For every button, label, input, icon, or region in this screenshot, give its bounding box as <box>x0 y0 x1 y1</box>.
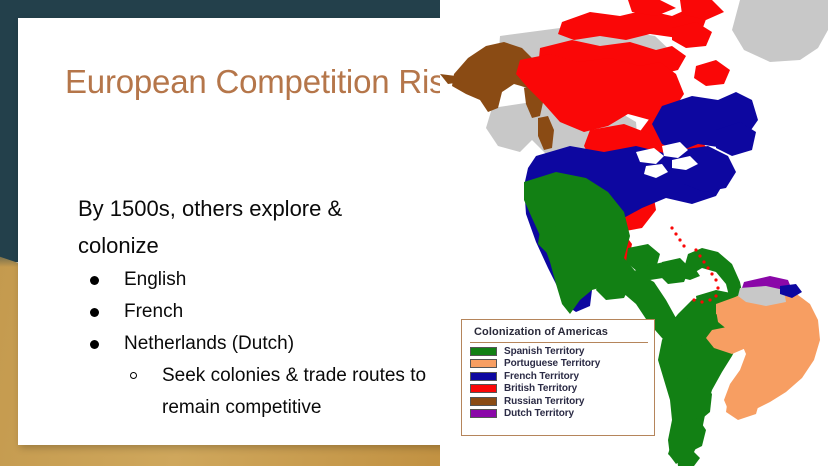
legend-label: Russian Territory <box>504 396 584 407</box>
presentation-slide: European Competition Rises By 1500s, oth… <box>0 0 828 466</box>
legend-divider <box>470 342 648 343</box>
legend-swatch-spanish <box>470 347 497 356</box>
legend-title: Colonization of Americas <box>474 326 608 338</box>
bullet-disc-icon <box>90 308 99 317</box>
bullet-list-level2: Seek colonies & trade routes to remain c… <box>78 360 458 424</box>
legend-row: Russian Territory <box>470 395 650 408</box>
legend-swatch-french <box>470 372 497 381</box>
list-item: French <box>78 296 458 328</box>
legend-row: French Territory <box>470 370 650 383</box>
legend-label: Dutch Territory <box>504 408 574 419</box>
bullet-list-level1: English French Netherlands (Dutch) <box>78 264 458 360</box>
bullet-disc-icon <box>90 276 99 285</box>
bullet-circle-icon <box>130 372 137 379</box>
legend-item-list: Spanish Territory Portuguese Territory F… <box>470 345 650 420</box>
legend-row: British Territory <box>470 383 650 396</box>
list-item-label: English <box>124 269 186 290</box>
legend-swatch-russian <box>470 397 497 406</box>
list-item: Netherlands (Dutch) <box>78 328 458 360</box>
list-item: Seek colonies & trade routes to remain c… <box>120 360 458 424</box>
legend-row: Portuguese Territory <box>470 358 650 371</box>
list-item-label: French <box>124 301 183 322</box>
legend-label: Spanish Territory <box>504 346 584 357</box>
list-item: English <box>78 264 458 296</box>
legend-label: British Territory <box>504 383 577 394</box>
legend-swatch-dutch <box>470 409 497 418</box>
lead-paragraph: By 1500s, others explore & colonize <box>78 190 398 264</box>
bullet-disc-icon <box>90 340 99 349</box>
legend-swatch-portuguese <box>470 359 497 368</box>
slide-body: By 1500s, others explore & colonize Engl… <box>78 190 458 424</box>
legend-label: French Territory <box>504 371 579 382</box>
list-item-label: Seek colonies & trade routes to remain c… <box>162 365 426 418</box>
legend-label: Portuguese Territory <box>504 358 600 369</box>
legend-row: Dutch Territory <box>470 408 650 421</box>
map-legend: Colonization of Americas Spanish Territo… <box>461 319 655 436</box>
legend-swatch-british <box>470 384 497 393</box>
legend-row: Spanish Territory <box>470 345 650 358</box>
list-item-label: Netherlands (Dutch) <box>124 333 294 354</box>
